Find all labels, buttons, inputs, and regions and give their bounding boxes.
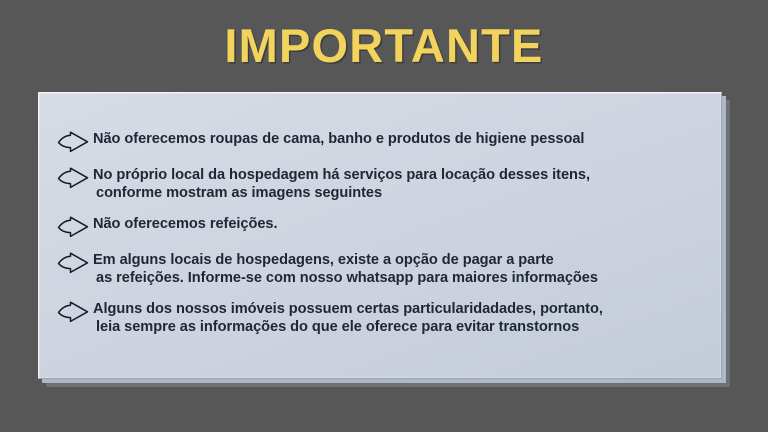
list-item-line2: leia sempre as informações do que ele of… — [93, 319, 579, 335]
list-item-line1: Não oferecemos refeições. — [93, 216, 278, 232]
list-item: No próprio local da hospedagem há serviç… — [56, 167, 712, 202]
list-item-line1: No próprio local da hospedagem há serviç… — [93, 167, 590, 183]
list-item: Não oferecemos refeições. — [56, 216, 712, 238]
list-item-line2: conforme mostram as imagens seguintes — [93, 185, 382, 201]
list-item-text: No próprio local da hospedagem há serviç… — [93, 167, 712, 202]
list-item-text: Alguns dos nossos imóveis possuem certas… — [93, 301, 712, 336]
list-item-line1: Não oferecemos roupas de cama, banho e p… — [93, 131, 584, 147]
list-item-line1: Em alguns locais de hospedagens, existe … — [93, 252, 554, 268]
slide-canvas: IMPORTANTE Não oferecemos roupas de cama… — [0, 0, 768, 432]
arrow-right-icon — [56, 216, 90, 238]
page-title: IMPORTANTE — [0, 22, 768, 69]
list-item-line1: Alguns dos nossos imóveis possuem certas… — [93, 301, 603, 317]
list-item-text: Não oferecemos refeições. — [93, 216, 712, 234]
content-panel-stack: Não oferecemos roupas de cama, banho e p… — [38, 92, 722, 379]
list-item-text: Em alguns locais de hospedagens, existe … — [93, 252, 712, 287]
arrow-right-icon — [56, 252, 90, 274]
arrow-right-icon — [56, 131, 90, 153]
list-item-text: Não oferecemos roupas de cama, banho e p… — [93, 131, 712, 149]
arrow-right-icon — [56, 167, 90, 189]
list-item-line2: as refeições. Informe-se com nosso whats… — [93, 270, 598, 286]
list-item: Em alguns locais de hospedagens, existe … — [56, 252, 712, 287]
list-item: Não oferecemos roupas de cama, banho e p… — [56, 131, 712, 153]
arrow-right-icon — [56, 301, 90, 323]
list-item: Alguns dos nossos imóveis possuem certas… — [56, 301, 712, 336]
content-panel: Não oferecemos roupas de cama, banho e p… — [38, 92, 722, 379]
bullet-list: Não oferecemos roupas de cama, banho e p… — [56, 131, 712, 336]
